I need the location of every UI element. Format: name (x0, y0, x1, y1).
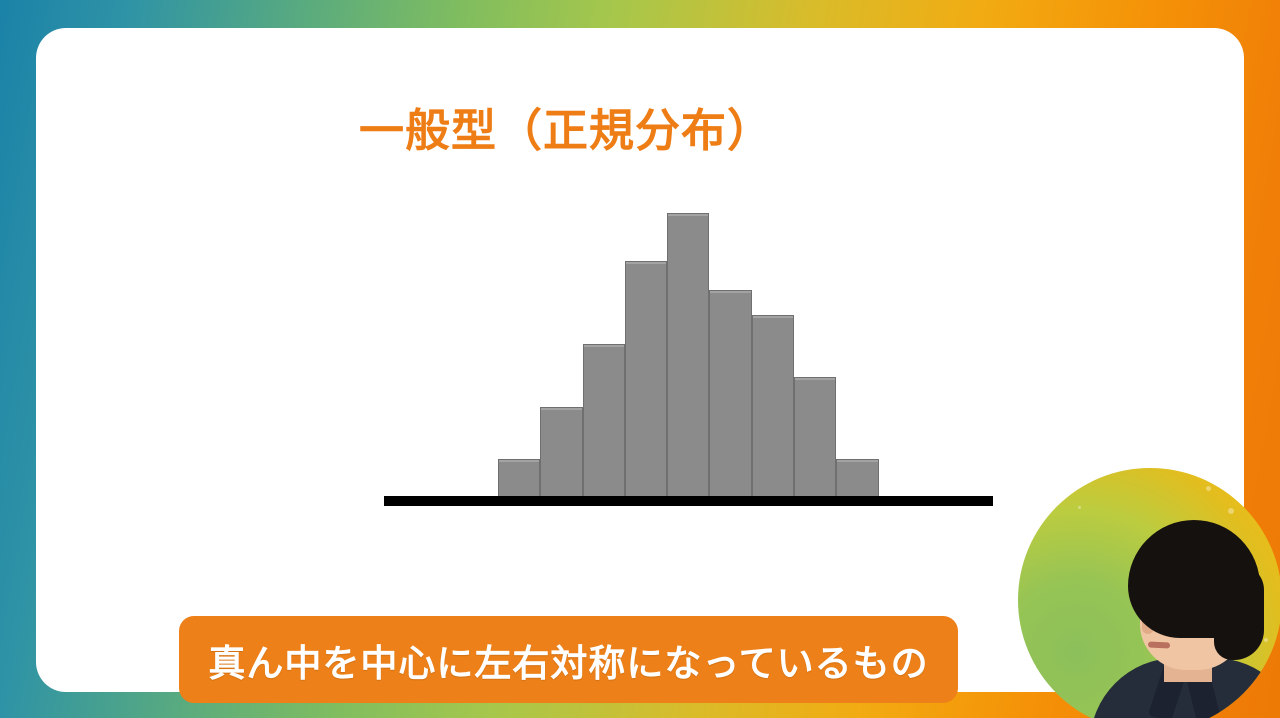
histogram-bar (625, 261, 667, 496)
presenter-hair-side (1214, 564, 1264, 660)
caption-text: 真ん中を中心に左右対称になっているもの (208, 633, 928, 687)
histogram-chart (384, 198, 994, 508)
chart-baseline-axis (384, 496, 993, 506)
histogram-bar (836, 459, 878, 496)
webcam-background (1018, 468, 1280, 718)
histogram-bars (498, 198, 879, 496)
histogram-bar (583, 344, 625, 496)
histogram-bar (540, 407, 582, 496)
histogram-bar (667, 213, 709, 496)
caption-banner: 真ん中を中心に左右対称になっているもの (179, 616, 958, 703)
histogram-bar (709, 290, 751, 496)
presenter-mouth (1148, 641, 1170, 648)
histogram-bar (498, 459, 540, 496)
page-title: 一般型（正規分布） (36, 106, 1096, 156)
presenter-figure (1018, 468, 1280, 718)
histogram-bar (794, 377, 836, 496)
presenter-video-bubble (1018, 468, 1280, 718)
slide-stage: 一般型（正規分布） 真ん中を中心に左右対称になっているもの (0, 0, 1280, 718)
histogram-bar (752, 315, 794, 496)
